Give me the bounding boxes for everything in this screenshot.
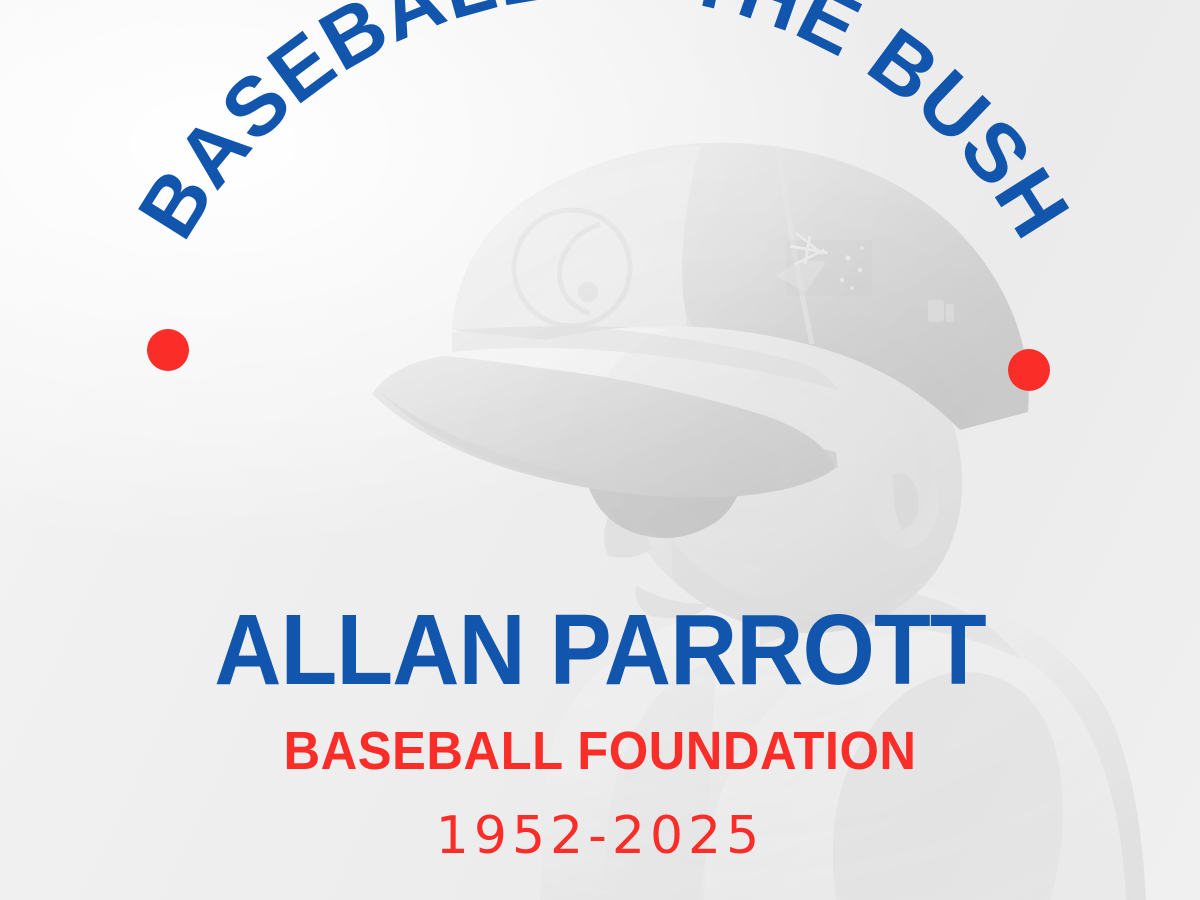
red-dot-left xyxy=(147,329,189,371)
arch-headline-text: BASEBALL IN THE BUSH xyxy=(120,0,1088,254)
tribute-organisation: BASEBALL FOUNDATION xyxy=(36,724,1164,778)
tribute-name: ALLAN PARROTT xyxy=(42,600,1158,700)
tribute-block: ALLAN PARROTT BASEBALL FOUNDATION 1952-2… xyxy=(0,600,1200,862)
red-dot-right xyxy=(1008,349,1050,391)
tribute-years: 1952-2025 xyxy=(0,810,1200,862)
memorial-poster: BASEBALL IN THE BUSH ALLAN PARROTT BASEB… xyxy=(0,0,1200,900)
